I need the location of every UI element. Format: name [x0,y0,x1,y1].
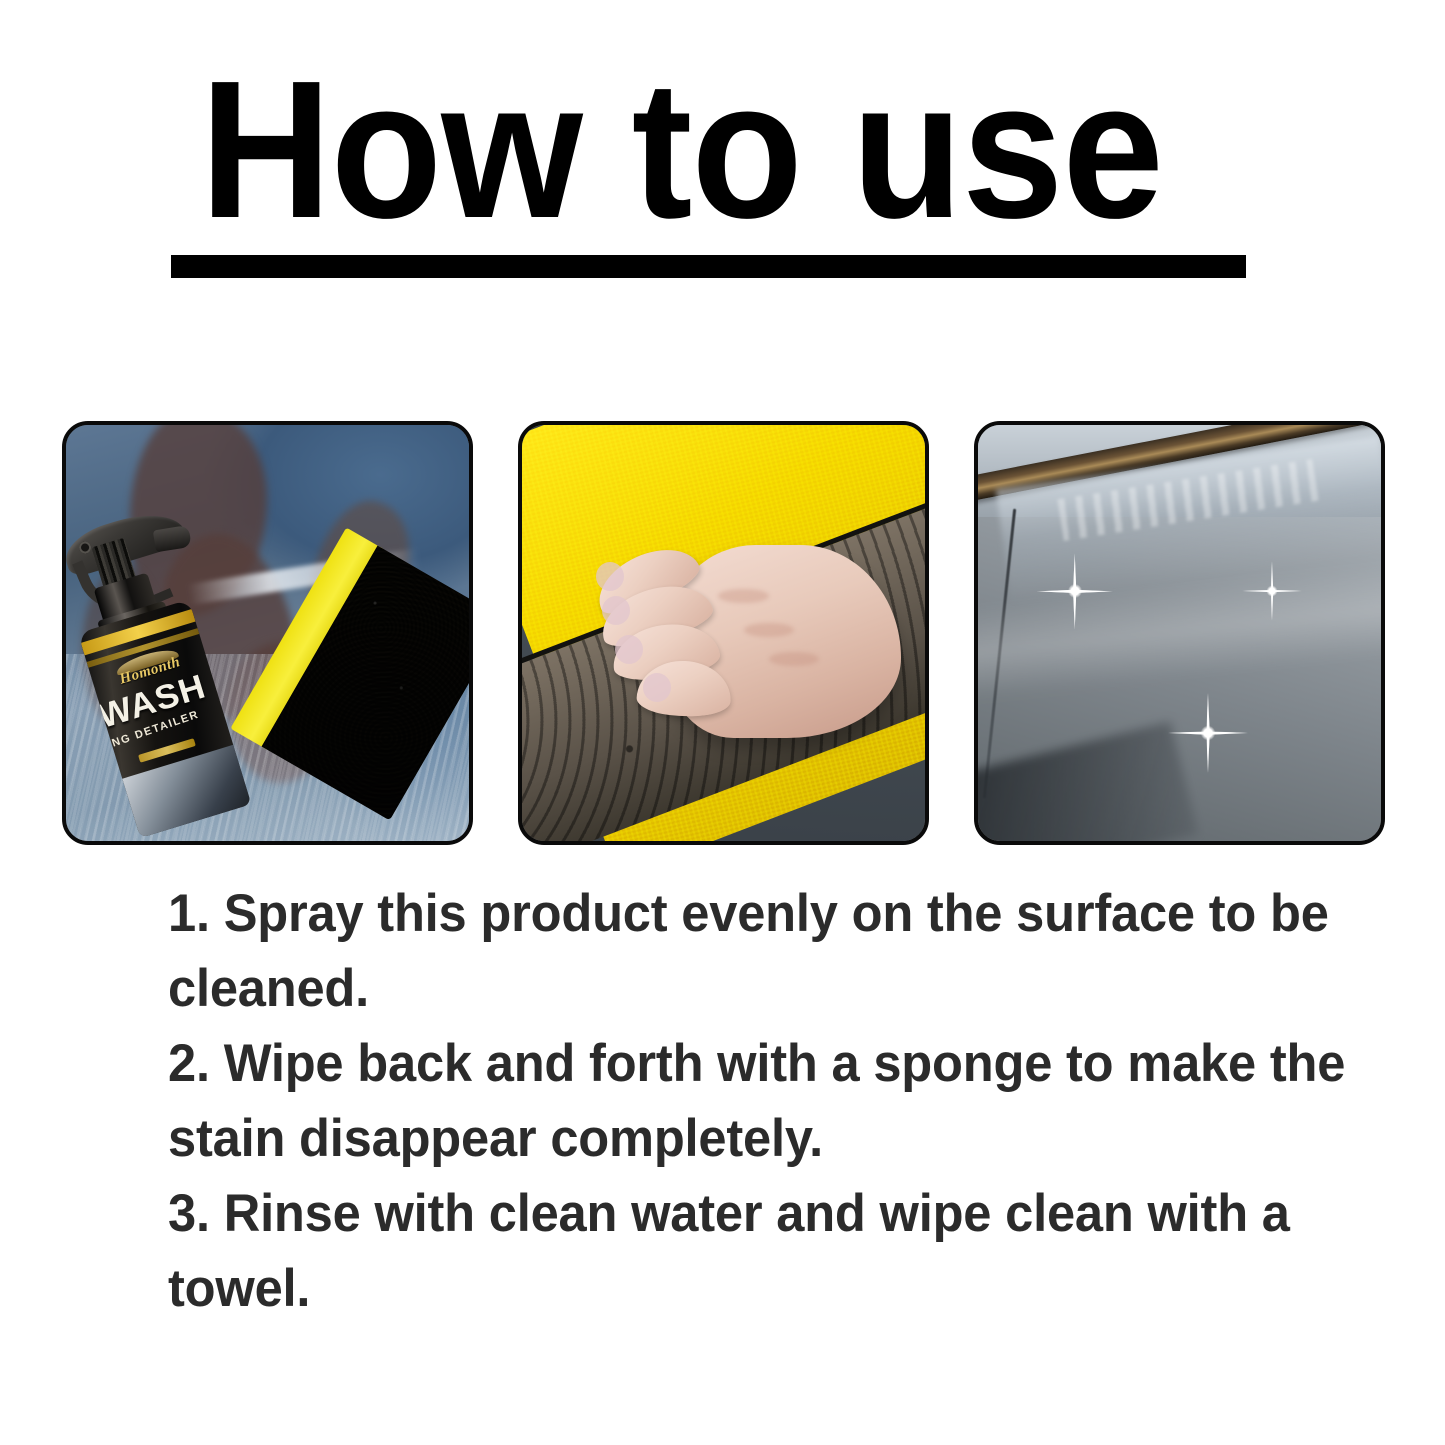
title-underline-rule [171,255,1246,278]
panel-result-inner [978,425,1381,841]
image-panel-result [974,421,1385,845]
hand-illustration [586,517,900,758]
image-panel-wipe [518,421,929,845]
page-title: How to use [200,52,1163,248]
panel-row: Homonth WASH ING DETAILER [62,421,1385,845]
panel-wipe-inner [522,425,925,841]
step-2-line-2: stain disappear completely. [168,1101,1247,1176]
step-3-line-2: towel. [168,1251,1247,1326]
step-1-line-1: 1. Spray this product evenly on the surf… [168,876,1247,951]
poster-root: How to use [0,0,1445,1445]
image-panel-spray: Homonth WASH ING DETAILER [62,421,473,845]
instruction-steps: 1. Spray this product evenly on the surf… [168,876,1298,1326]
knuckle-shadow [769,652,819,666]
step-2-line-1: 2. Wipe back and forth with a sponge to … [168,1026,1247,1101]
knuckle-shadow [744,623,794,637]
panel-spray-inner: Homonth WASH ING DETAILER [66,425,469,841]
step-3-line-1: 3. Rinse with clean water and wipe clean… [168,1176,1247,1251]
step-1-line-2: cleaned. [168,951,1247,1026]
spray-nozzle [153,525,192,552]
fingernail [615,635,643,664]
